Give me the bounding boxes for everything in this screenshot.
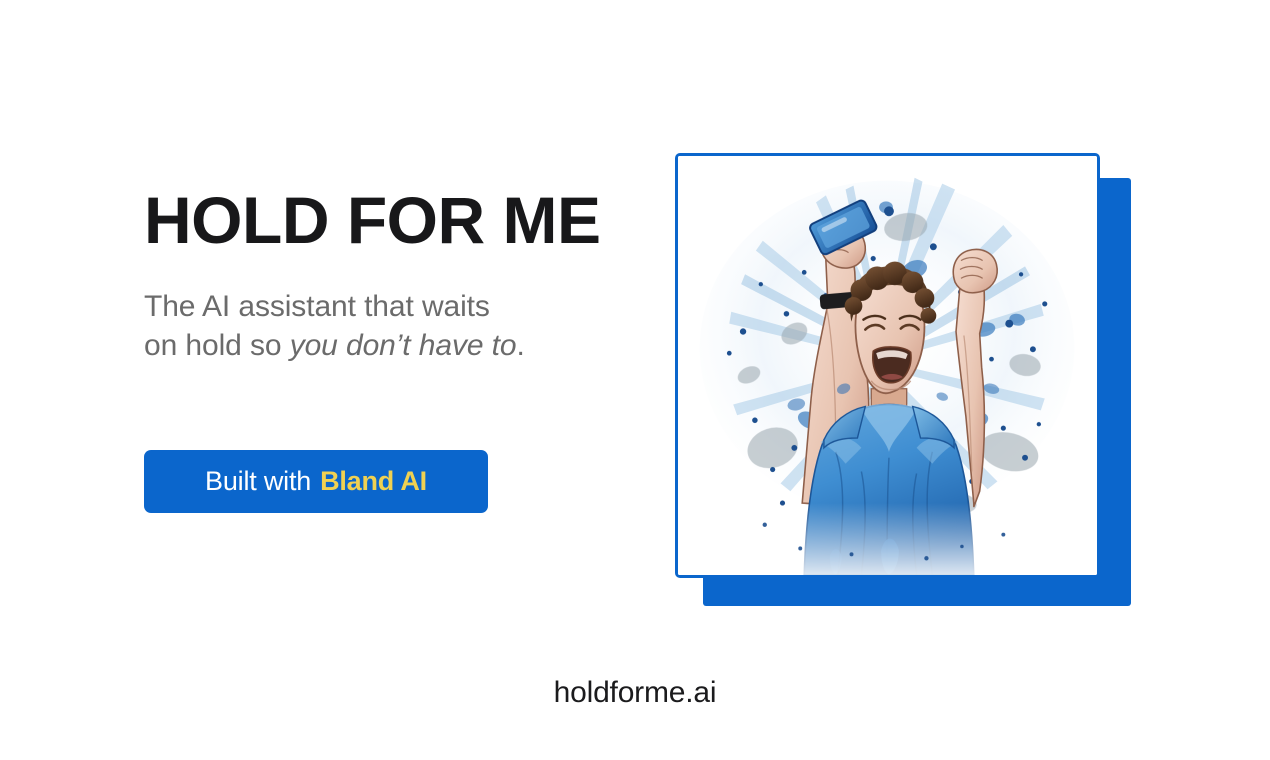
subtitle-line-1: The AI assistant that waits — [144, 290, 490, 323]
cta-brand-label: Bland AI — [320, 466, 427, 497]
subtitle-line-2-prefix: on hold so — [144, 329, 290, 362]
hero-subtitle: The AI assistant that waits on hold so y… — [144, 287, 614, 365]
hero-copy-block: HOLD FOR ME The AI assistant that waits … — [144, 186, 614, 365]
hero-page: HOLD FOR ME The AI assistant that waits … — [0, 0, 1270, 760]
hero-image-card — [675, 153, 1131, 608]
subtitle-line-2-suffix: . — [517, 329, 525, 362]
footer-url: holdforme.ai — [0, 676, 1270, 710]
page-title: HOLD FOR ME — [144, 186, 614, 255]
built-with-bland-ai-button[interactable]: Built with Bland AI — [144, 450, 488, 513]
cta-prefix-label: Built with — [205, 466, 311, 497]
image-card-frame — [675, 153, 1100, 578]
cheering-man-illustration — [678, 156, 1097, 575]
subtitle-emphasis: you don’t have to — [290, 329, 517, 362]
